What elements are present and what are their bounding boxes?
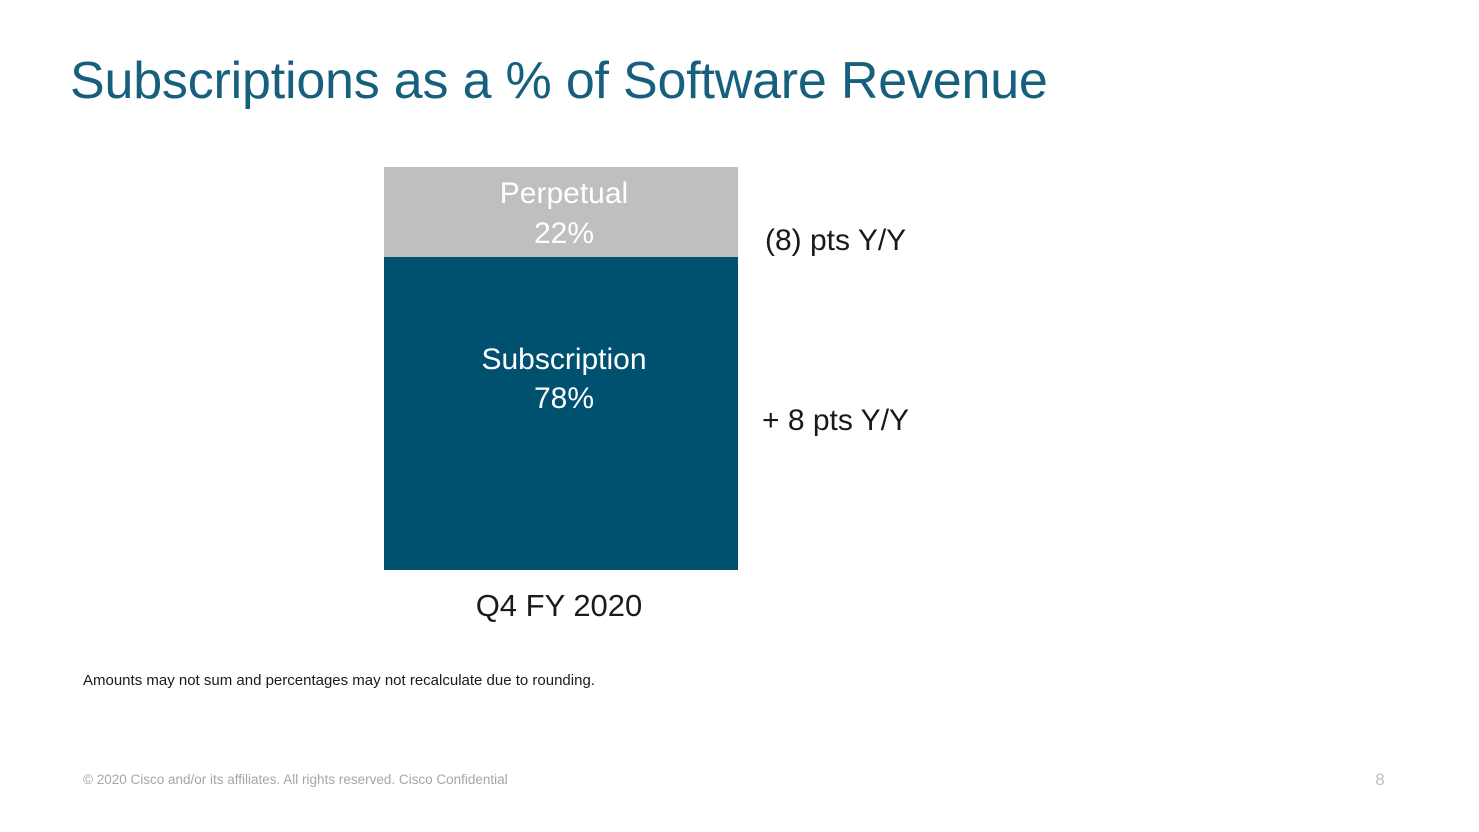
footer-copyright: © 2020 Cisco and/or its affiliates. All … (83, 772, 508, 787)
bar-segment-subscription-value: 78% (481, 379, 646, 419)
slide-canvas: Subscriptions as a % of Software Revenue… (0, 0, 1479, 832)
bar-column-q4-fy-2020: Perpetual 22% Subscription 78% (384, 167, 738, 570)
bar-segment-perpetual-value: 22% (500, 214, 628, 254)
bar-segment-perpetual-label: Perpetual 22% (500, 174, 628, 254)
footnote: Amounts may not sum and percentages may … (83, 672, 595, 689)
bar-segment-perpetual-name: Perpetual (500, 174, 628, 214)
bar-segment-perpetual[interactable]: Perpetual 22% (384, 167, 738, 257)
bar-segment-subscription[interactable]: Subscription 78% (384, 257, 738, 570)
x-axis-category-label: Q4 FY 2020 (382, 588, 736, 624)
annotation-subscription-yoy: + 8 pts Y/Y (762, 404, 909, 438)
annotation-perpetual-yoy: (8) pts Y/Y (765, 224, 906, 258)
bar-segment-subscription-name: Subscription (481, 340, 646, 380)
stacked-bar-chart: Perpetual 22% Subscription 78% Q4 FY 202… (0, 0, 1479, 832)
footer-page-number: 8 (1360, 770, 1400, 790)
bar-segment-subscription-label: Subscription 78% (481, 340, 646, 420)
